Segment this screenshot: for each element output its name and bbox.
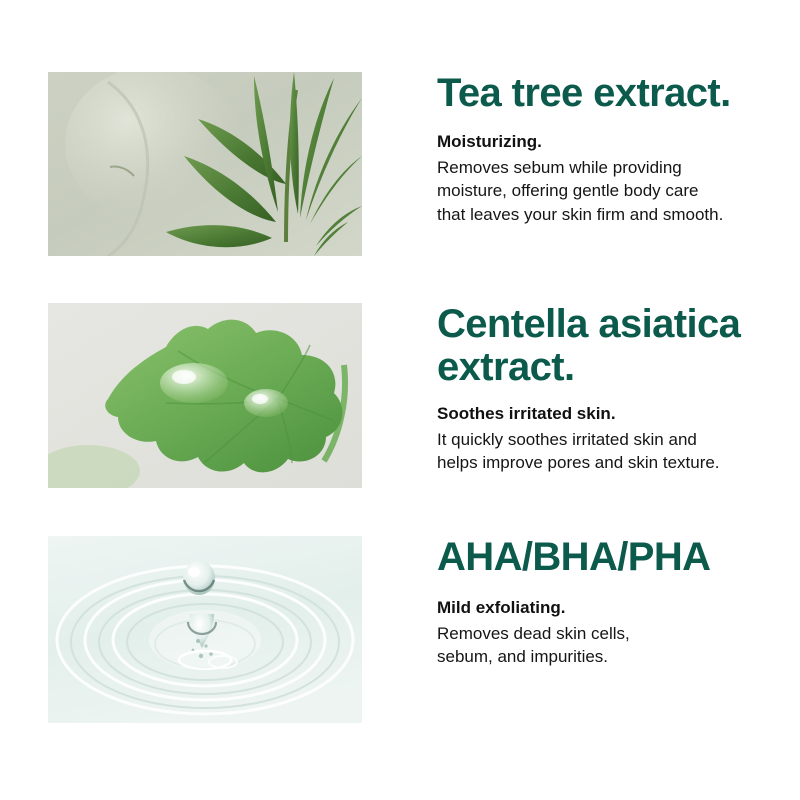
tea-tree-leaves-photo <box>48 72 362 256</box>
acids-copy: AHA/BHA/PHA Mild exfoliating. Removes de… <box>437 536 782 669</box>
tea-tree-copy: Tea tree extract. Moisturizing. Removes … <box>437 72 782 226</box>
section-subtitle: Soothes irritated skin. <box>437 403 782 426</box>
section-body: Removes dead skin cells, sebum, and impu… <box>437 622 782 669</box>
section-heading: AHA/BHA/PHA <box>437 536 782 579</box>
ingredient-benefits-page: Tea tree extract. Moisturizing. Removes … <box>0 0 800 800</box>
section-subtitle: Moisturizing. <box>437 131 782 154</box>
centella-copy: Centella asiatica extract. Soothes irrit… <box>437 303 782 474</box>
section-heading: Tea tree extract. <box>437 72 782 115</box>
section-body: It quickly soothes irritated skin and he… <box>437 428 782 475</box>
centella-leaf-photo <box>48 303 362 488</box>
section-heading: Centella asiatica extract. <box>437 303 782 389</box>
section-subtitle: Mild exfoliating. <box>437 597 782 620</box>
section-body: Removes sebum while providing moisture, … <box>437 156 782 226</box>
water-droplet-ripple-photo <box>48 536 362 723</box>
